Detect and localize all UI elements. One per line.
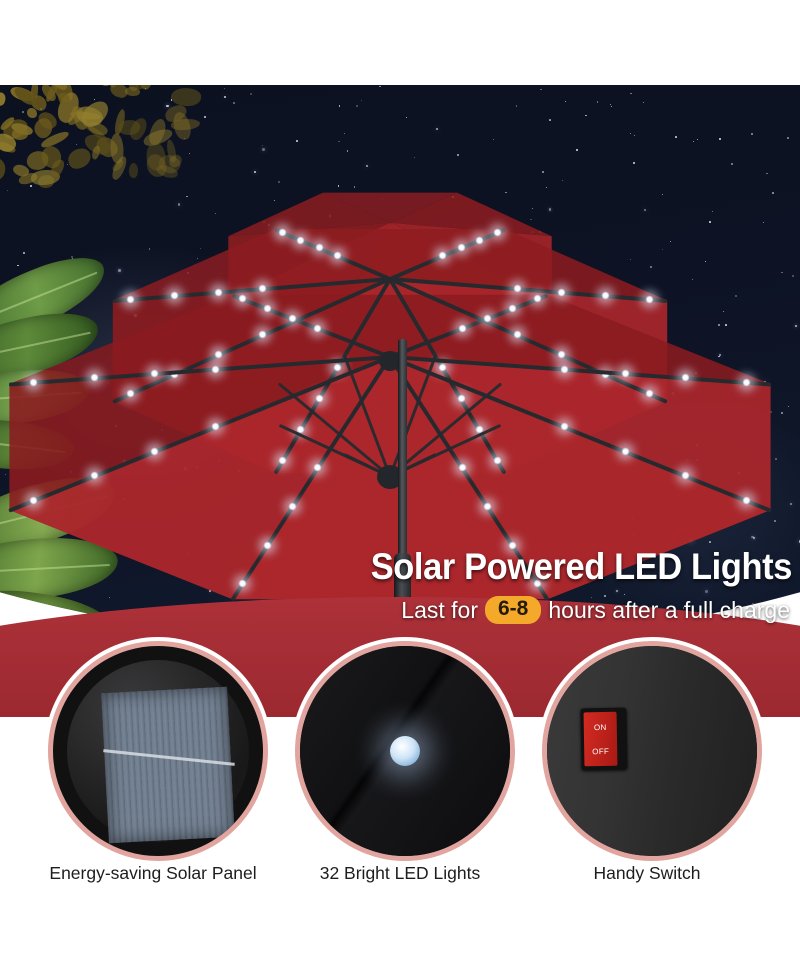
solar-housing	[67, 660, 249, 842]
solar-panel-photo	[48, 641, 268, 861]
feature-led-lights: 32 Bright LED Lights	[295, 641, 515, 861]
led-photo	[295, 641, 515, 861]
feature-caption-handy-switch: Handy Switch	[497, 863, 797, 884]
switch-off-label: OFF	[592, 746, 609, 755]
switch-on-label: ON	[594, 722, 607, 731]
rocker-switch[interactable]: ON OFF	[584, 712, 618, 767]
page-title: Solar Powered LED Lights	[371, 546, 792, 588]
feature-handy-switch: ON OFF Handy Switch	[542, 641, 762, 861]
product-feature-image: Solar Powered LED Lights Last for 6-8 ho…	[0, 0, 800, 977]
subtitle: Last for 6-8 hours after a full charge	[401, 595, 790, 625]
led-bulb-icon	[390, 736, 420, 766]
switch-plate: ON OFF	[580, 708, 627, 771]
solar-cell	[101, 687, 235, 843]
umbrella-pole-surface: ON OFF	[547, 646, 757, 856]
switch-photo: ON OFF	[542, 641, 762, 861]
duration-badge: 6-8	[485, 596, 541, 624]
feature-solar-panel: Energy-saving Solar Panel	[48, 641, 268, 861]
subtitle-suffix: hours after a full charge	[548, 595, 790, 625]
subtitle-prefix: Last for	[401, 595, 478, 625]
